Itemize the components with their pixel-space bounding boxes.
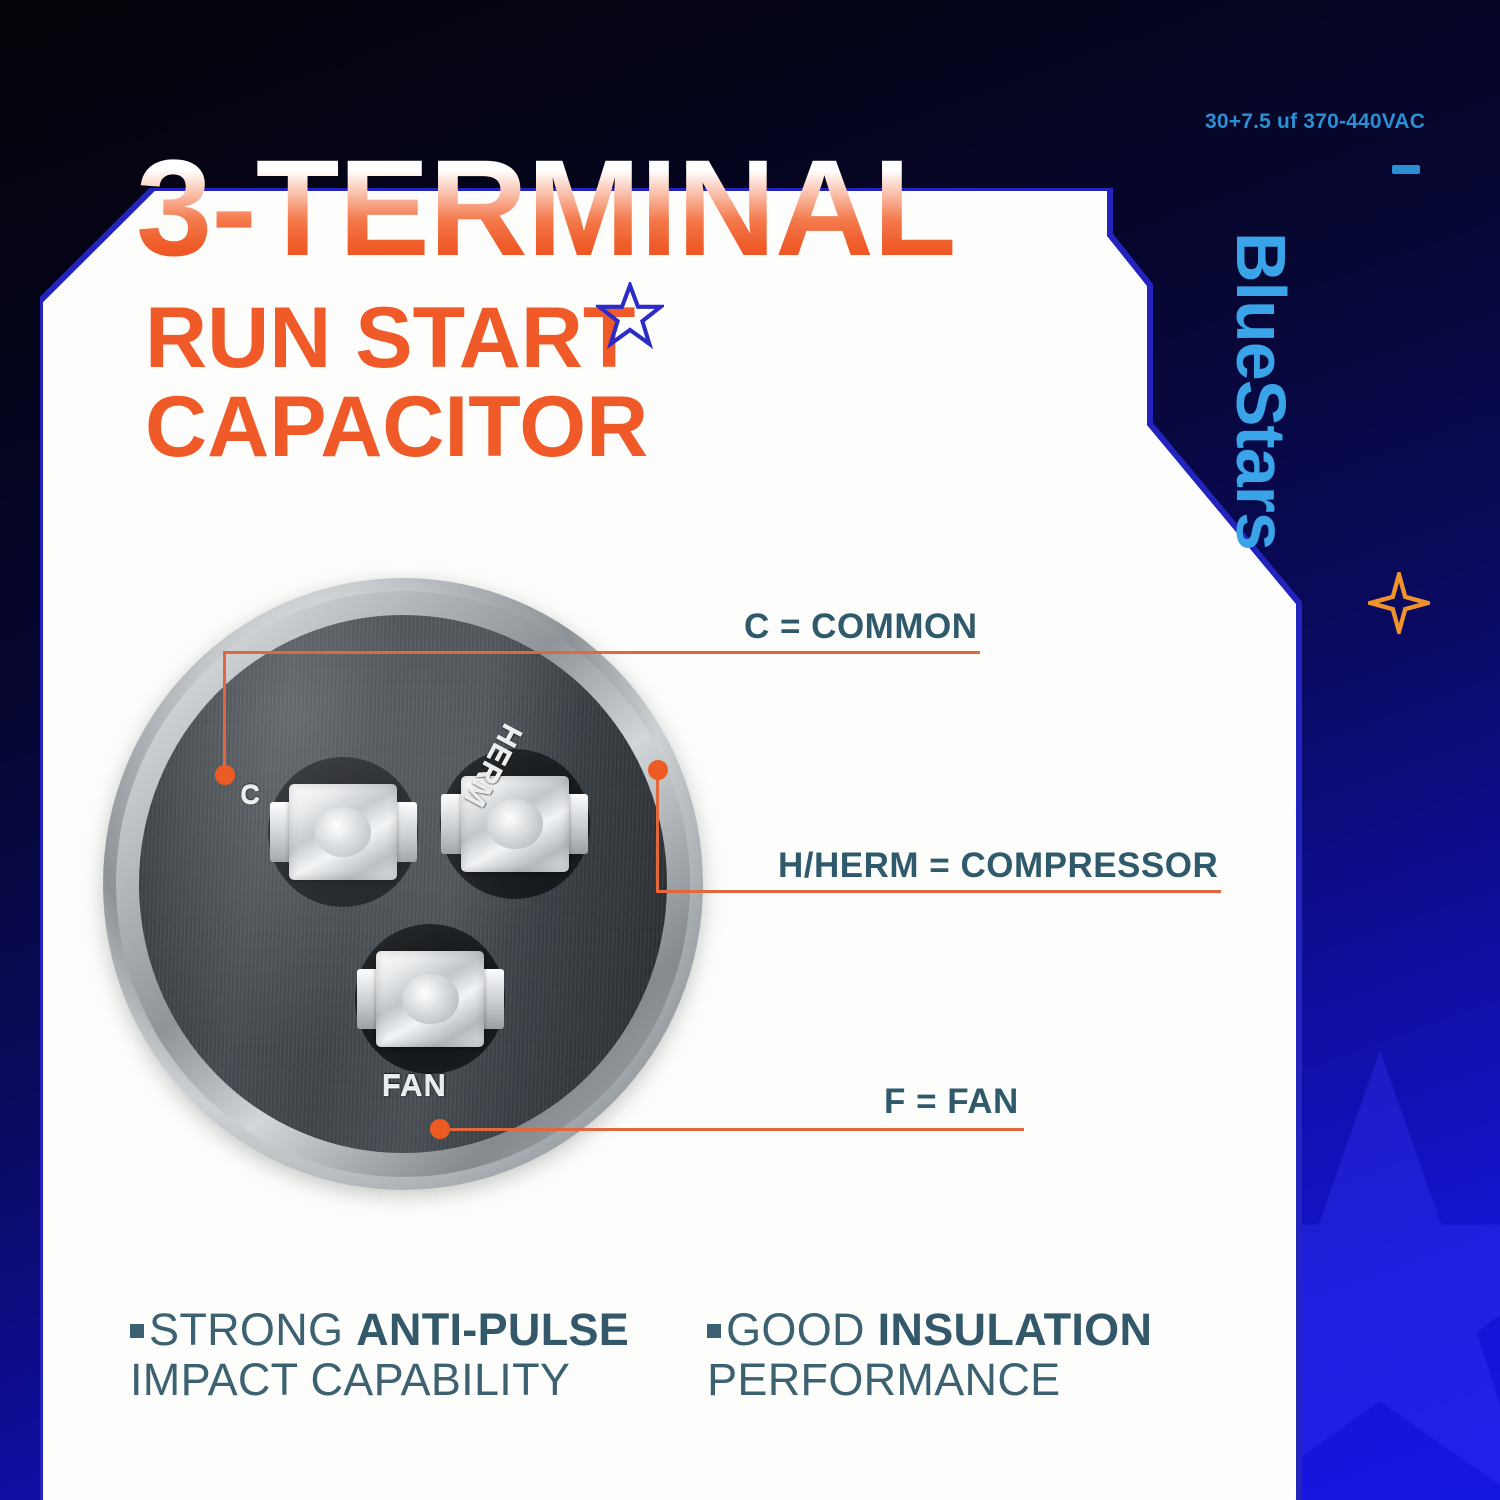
page-subtitle: RUN START CAPACITOR	[145, 294, 648, 471]
page-subtitle-line2: CAPACITOR	[145, 383, 648, 472]
bullet-square-icon	[130, 1324, 144, 1338]
page-subtitle-line1: RUN START	[145, 290, 635, 386]
callout-line-compressor	[656, 890, 1221, 893]
callout-dot-fan	[430, 1119, 450, 1139]
callout-dot-common	[215, 765, 235, 785]
callout-leader-common	[223, 651, 226, 773]
callout-label-common: C = COMMON	[744, 607, 977, 647]
capacitor-photo: C HERM FAN	[103, 578, 703, 1190]
terminal-fan	[355, 924, 505, 1074]
terminal-tab-left	[270, 802, 294, 862]
feature-prefix: STRONG	[149, 1304, 356, 1355]
terminal-tab-right	[480, 969, 504, 1029]
terminal-herm	[440, 749, 590, 899]
brand-wordmark: BlueStars	[1216, 232, 1296, 652]
feature-prefix: GOOD	[726, 1304, 878, 1355]
callout-label-fan: F = FAN	[884, 1082, 1019, 1122]
product-rating-text: 30+7.5 uf 370-440VAC	[1205, 110, 1425, 134]
features-list: STRONG ANTI-PULSE IMPACT CAPABILITY GOOD…	[130, 1305, 1230, 1406]
terminal-tab-right	[564, 794, 588, 854]
feature-line2: PERFORMANCE	[707, 1355, 1152, 1405]
terminal-blade	[289, 784, 397, 880]
four-point-star-icon	[1368, 572, 1430, 634]
terminal-tab-left	[357, 969, 381, 1029]
callout-dot-compressor	[648, 760, 668, 780]
terminal-blade	[376, 951, 484, 1047]
callout-leader-compressor	[656, 768, 659, 893]
page-title: 3-TERMINAL	[136, 140, 956, 277]
feature-insulation: GOOD INSULATION PERFORMANCE	[707, 1305, 1152, 1406]
five-point-star-icon	[596, 282, 664, 350]
infographic-canvas: 30+7.5 uf 370-440VAC BlueStars 3-TERMINA…	[0, 0, 1500, 1500]
embossed-label-c: C	[240, 779, 261, 810]
callout-label-compressor: H/HERM = COMPRESSOR	[778, 846, 1218, 886]
feature-strong: INSULATION	[878, 1304, 1153, 1355]
terminal-tab-left	[441, 794, 465, 854]
embossed-label-herm: HERM	[457, 719, 528, 813]
feature-anti-pulse: STRONG ANTI-PULSE IMPACT CAPABILITY	[130, 1305, 629, 1406]
spec-dash-decor	[1392, 165, 1420, 174]
capacitor-top-face: C HERM FAN	[139, 615, 667, 1154]
feature-strong: ANTI-PULSE	[356, 1304, 629, 1355]
terminal-blade	[461, 776, 569, 872]
feature-line2: IMPACT CAPABILITY	[130, 1355, 629, 1405]
callout-line-common	[223, 651, 980, 654]
bullet-square-icon	[707, 1324, 721, 1338]
terminal-tab-right	[393, 802, 417, 862]
embossed-label-fan: FAN	[382, 1067, 447, 1103]
callout-line-fan	[437, 1128, 1024, 1131]
terminal-common	[268, 757, 418, 907]
